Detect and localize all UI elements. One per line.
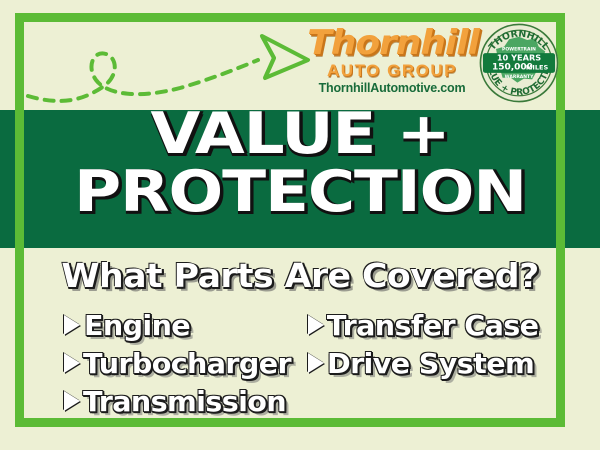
triangle-bullet-icon [64, 315, 80, 335]
list-item: Engine [64, 306, 289, 344]
covered-parts-right-column: Transfer Case Drive System [308, 306, 536, 382]
triangle-bullet-icon [64, 353, 80, 373]
thornhill-logo[interactable]: Thornhill AUTO GROUP ThornhillAutomotive… [312, 26, 472, 104]
triangle-bullet-icon [308, 353, 324, 373]
headline-line-2: PROTECTION [0, 166, 600, 218]
list-item: Turbocharger [64, 344, 289, 382]
logo-website: ThornhillAutomotive.com [312, 82, 472, 95]
value-protection-ad-banner: Thornhill AUTO GROUP ThornhillAutomotive… [0, 0, 600, 450]
list-item: Transfer Case [308, 306, 536, 344]
triangle-bullet-icon [308, 315, 324, 335]
headline-line-1: VALUE + [0, 108, 600, 160]
list-item-label: Engine [84, 309, 190, 342]
covered-parts-left-column: Engine Turbocharger Transmission [64, 306, 289, 420]
main-headline: VALUE + PROTECTION [0, 108, 600, 219]
seal-warranty-label: WARRANTY [505, 74, 534, 80]
list-item: Drive System [308, 344, 536, 382]
dashed-trail-path [28, 53, 258, 101]
logo-wordmark: Thornhill [307, 26, 477, 60]
flight-path-decoration [22, 18, 312, 110]
sub-headline: What Parts Are Covered? [0, 256, 600, 295]
list-item-label: Transfer Case [327, 309, 539, 342]
list-item: Transmission [64, 382, 289, 420]
triangle-bullet-icon [64, 391, 80, 411]
seal-miles-unit: MILES [526, 64, 549, 72]
list-item-label: Turbocharger [83, 347, 291, 380]
list-item-label: Drive System [327, 347, 534, 380]
list-item-label: Transmission [83, 385, 286, 418]
seal-years-text: 10 YEARS [497, 53, 541, 63]
logo-subtitle: AUTO GROUP [312, 62, 472, 79]
warranty-seal-badge: THORNHILL VALUE + PROTECTION POWERTRAIN … [478, 22, 560, 104]
